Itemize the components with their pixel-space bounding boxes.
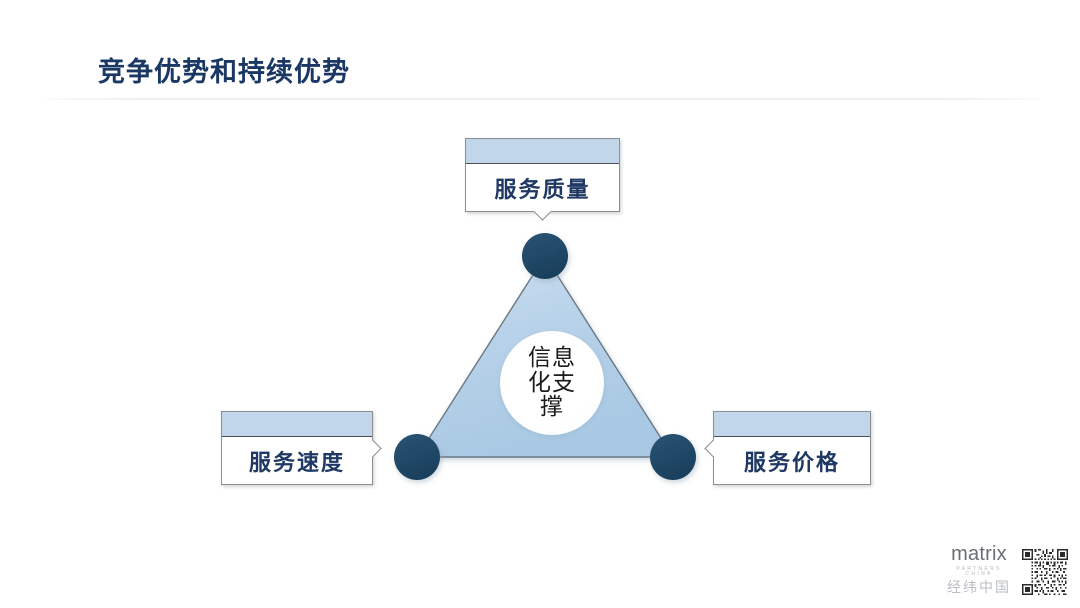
title-divider (45, 98, 1040, 100)
callout-box-service-price[interactable]: 服务价格 (713, 411, 871, 485)
triangle-diagram (0, 0, 1080, 608)
callout-header-strip (714, 412, 870, 437)
center-line-1: 信息 (528, 346, 576, 370)
brand-logo: matrix PARTNERS CHINA 经纬中国 (941, 544, 1017, 594)
qr-code-icon (1022, 549, 1068, 595)
triangle-node-top[interactable] (522, 233, 568, 279)
triangle-node-bottom-left[interactable] (394, 434, 440, 480)
callout-box-service-speed[interactable]: 服务速度 (221, 411, 373, 485)
callout-body: 服务价格 (714, 437, 870, 484)
callout-body: 服务速度 (222, 437, 372, 484)
callout-label-service-speed: 服务速度 (249, 445, 345, 477)
logo-chinese-name: 经纬中国 (941, 580, 1017, 594)
page-title: 竞争优势和持续优势 (98, 50, 350, 89)
center-circle[interactable]: 信息 化支 撑 (500, 331, 604, 435)
logo-wordmark: matrix (941, 544, 1017, 564)
slide-canvas: 竞争优势和持续优势 信息 化支 撑 (0, 0, 1080, 608)
center-line-3: 撑 (540, 395, 564, 419)
triangle-node-bottom-right[interactable] (650, 434, 696, 480)
callout-label-service-quality: 服务质量 (494, 172, 590, 204)
callout-header-strip (222, 412, 372, 437)
callout-label-service-price: 服务价格 (744, 445, 840, 477)
callout-box-service-quality[interactable]: 服务质量 (465, 138, 620, 212)
callout-header-strip (466, 139, 619, 164)
center-line-2: 化支 (528, 371, 576, 395)
logo-subtitle: PARTNERS CHINA (941, 567, 1017, 577)
